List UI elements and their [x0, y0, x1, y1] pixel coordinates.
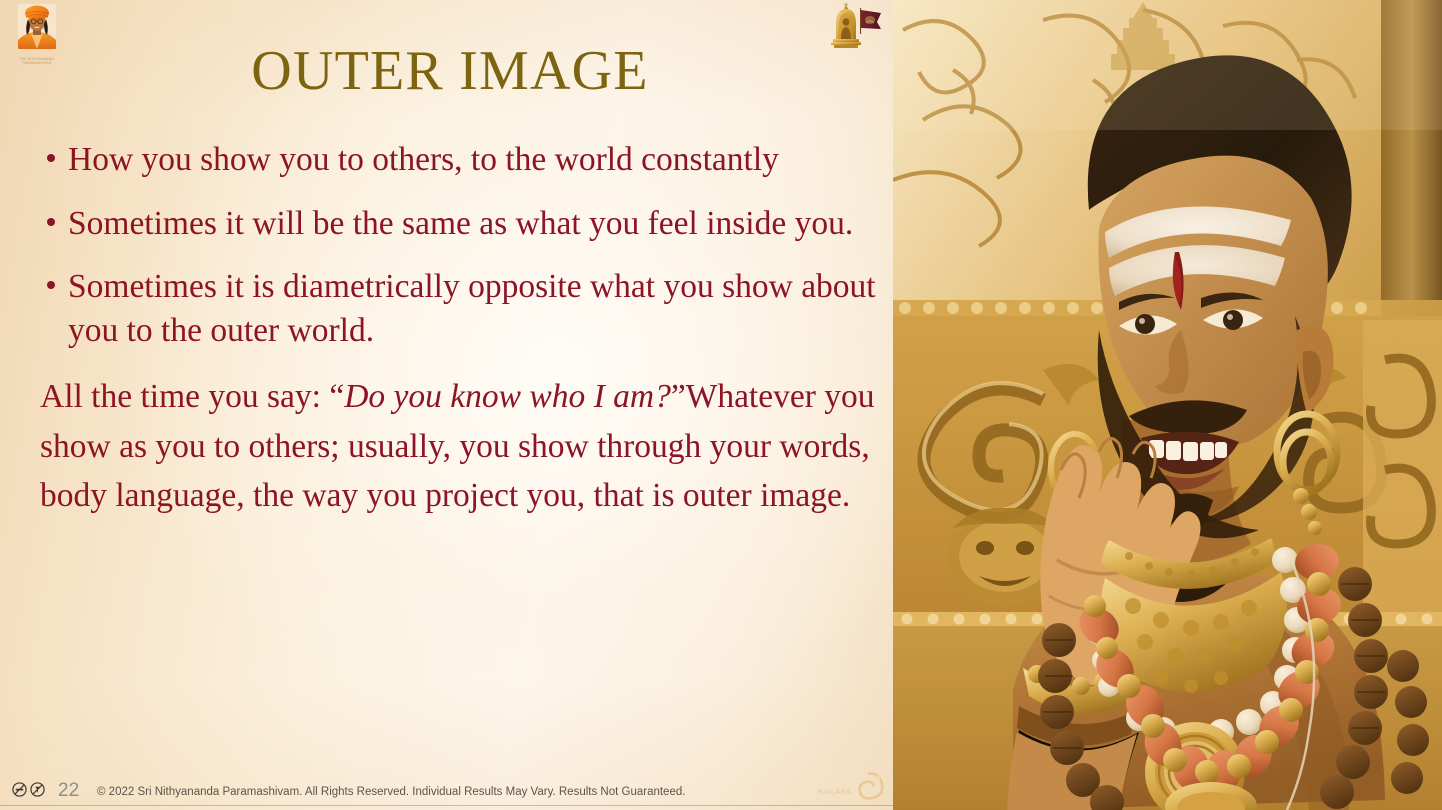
bullet-dot-icon	[47, 218, 55, 226]
kailasa-watermark: KAILASA	[818, 770, 890, 800]
no-smoking-icon	[12, 782, 27, 797]
page-number: 22	[58, 780, 79, 802]
guru-portrait-logo-icon	[8, 2, 66, 64]
presentation-slide: SRI NITHYANANDA PARAMASHIVAM	[0, 0, 1442, 810]
list-item: Sometimes it is diametrically opposite w…	[40, 265, 885, 352]
list-item-text: Sometimes it will be the same as what yo…	[68, 205, 853, 242]
brand-caption-line-2: PARAMASHIVAM	[22, 61, 51, 65]
list-item-text: How you show you to others, to the world…	[68, 141, 779, 178]
photo-artwork	[893, 0, 1442, 810]
closing-lead-text: All the time you say: “	[40, 378, 344, 415]
closing-paragraph: All the time you say: “Do you know who I…	[40, 372, 885, 521]
guru-portrait-photograph	[893, 0, 1442, 810]
deity-with-flag-icon	[820, 2, 882, 50]
bullet-dot-icon	[47, 154, 55, 162]
slide-body: How you show you to others, to the world…	[40, 138, 885, 521]
copyright-notice: © 2022 Sri Nithyananda Paramashivam. All…	[97, 786, 685, 798]
bullet-dot-icon	[47, 281, 55, 289]
brand-logo: SRI NITHYANANDA PARAMASHIVAM	[8, 2, 66, 64]
no-alcohol-icon	[30, 782, 45, 797]
slide-footer: 22 © 2022 Sri Nithyananda Paramashivam. …	[0, 760, 893, 810]
closing-quote-text: Do you know who I am?	[344, 378, 671, 415]
list-item-text: Sometimes it is diametrically opposite w…	[68, 268, 876, 349]
footer-divider	[0, 805, 893, 806]
list-item: How you show you to others, to the world…	[40, 138, 885, 182]
list-item: Sometimes it will be the same as what yo…	[40, 202, 885, 246]
footer-disclaimer-icons	[12, 782, 45, 797]
page-title: OUTER IMAGE	[60, 42, 840, 101]
watermark-text: KAILASA	[818, 789, 851, 796]
brand-logo-caption: SRI NITHYANANDA PARAMASHIVAM	[8, 57, 66, 66]
deity-logo	[820, 2, 882, 50]
brand-caption-line-1: SRI NITHYANANDA	[20, 57, 54, 61]
